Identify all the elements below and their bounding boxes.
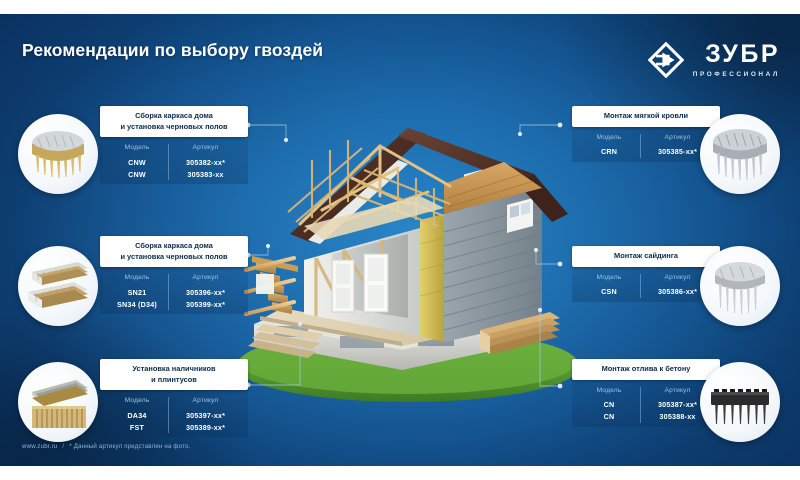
table-row: SN21 305396-xx* [106,286,242,298]
card-title: Сборка каркаса дома и установка черновых… [100,236,248,267]
table-header-row: Модель Артикул [578,274,714,286]
table-row: CNW 305383-xx [106,168,242,180]
card-title: Монтаж сайдинга [572,246,720,267]
card-title-line1: Монтаж отлива к бетону [577,364,715,375]
product-table: Модель Артикул SN21 305396-xx* SN34 (D34… [106,274,242,310]
table-header-row: Модель Артикул [578,387,714,399]
cell-article: 305396-xx* [169,286,242,298]
column-header-article: Артикул [169,144,242,156]
product-table: Модель Артикул CRN 305385-xx* [578,134,714,158]
table-row: SN34 (D34) 305399-xx* [106,298,242,310]
table-header-row: Модель Артикул [106,397,242,409]
cell-model: CRN [578,146,641,158]
card-body: Модель Артикул CSN 305386-xx* [572,267,720,302]
cell-article: 305382-xx* [169,156,242,168]
card-title-line1: Монтаж сайдинга [577,251,715,262]
column-header-article: Артикул [169,274,242,286]
callout-card-concrete-flashing[interactable]: Монтаж отлива к бетону Модель Артикул CN… [572,359,720,427]
cell-model: CSN [578,286,641,298]
brand-logo: ЗУБР ПРОФЕССИОНАЛ [648,42,780,78]
card-title-line1: Сборка каркаса дома [105,241,243,252]
footer: www.zubr.ru / * Данный артикул представл… [22,443,191,450]
card-title: Монтаж мягкой кровли [572,106,720,127]
product-table: Модель Артикул DA34 305397-xx* FST 30538… [106,397,242,433]
infographic-poster: Рекомендации по выбору гвоздей ЗУБР ПРОФ… [0,0,800,480]
logo-wordmark: ЗУБР [705,42,780,67]
table-header-row: Модель Артикул [578,134,714,146]
card-title-line2: и плинтусов [105,375,243,386]
table-row: CN 305387-xx* [578,399,714,411]
table-row: DA34 305397-xx* [106,409,242,421]
zubr-arrow-diamond-icon [648,42,684,78]
logo-tagline: ПРОФЕССИОНАЛ [693,71,780,78]
cell-article: 305389-xx* [169,421,242,433]
card-body: Модель Артикул CNW 305382-xx* CNW 305383… [100,137,248,184]
card-body: Модель Артикул DA34 305397-xx* FST 30538… [100,390,248,437]
table-header-row: Модель Артикул [106,274,242,286]
cell-article: 305399-xx* [169,298,242,310]
card-title-line1: Установка наличников [105,364,243,375]
callout-card-frame-subfloor-strip[interactable]: Сборка каркаса дома и установка черновых… [100,236,248,314]
column-header-model: Модель [578,387,641,399]
column-header-model: Модель [106,144,169,156]
card-title-line1: Сборка каркаса дома [105,111,243,122]
footer-website-link[interactable]: www.zubr.ru [22,443,57,450]
product-table: Модель Артикул CNW 305382-xx* CNW 305383… [106,144,242,180]
card-title: Монтаж отлива к бетону [572,359,720,380]
cell-model: CN [578,411,641,423]
cutaway-house-illustration [212,74,602,424]
finish-nail-strip-icon [18,362,98,442]
cell-model: CN [578,399,641,411]
cell-model: SN21 [106,286,169,298]
poster-stage: Рекомендации по выбору гвоздей ЗУБР ПРОФ… [0,14,800,466]
table-row: CSN 305386-xx* [578,286,714,298]
card-title-line1: Монтаж мягкой кровли [577,111,715,122]
table-row: CN 305388-xx [578,411,714,423]
table-row: FST 305389-xx* [106,421,242,433]
cell-model: SN34 (D34) [106,298,169,310]
card-title-line2: и установка черновых полов [105,122,243,133]
card-title: Установка наличников и плинтусов [100,359,248,390]
cell-model: CNW [106,156,169,168]
card-body: Модель Артикул SN21 305396-xx* SN34 (D34… [100,267,248,314]
column-header-model: Модель [106,397,169,409]
table-row: CNW 305382-xx* [106,156,242,168]
cell-article: 305397-xx* [169,409,242,421]
table-header-row: Модель Артикул [106,144,242,156]
product-table: Модель Артикул CN 305387-xx* CN 305388-x… [578,387,714,423]
cell-model: FST [106,421,169,433]
card-body: Модель Артикул CRN 305385-xx* [572,127,720,162]
nail-coil-icon [18,114,98,194]
callout-card-trim-baseboard[interactable]: Установка наличников и плинтусов Модель … [100,359,248,437]
column-header-model: Модель [578,274,641,286]
card-title: Сборка каркаса дома и установка черновых… [100,106,248,137]
callout-card-soft-roofing[interactable]: Монтаж мягкой кровли Модель Артикул CRN … [572,106,720,162]
footer-separator: / [62,443,64,450]
page-title: Рекомендации по выбору гвоздей [22,40,323,61]
cell-model: DA34 [106,409,169,421]
roofing-nail-coil-icon [700,114,780,194]
column-header-model: Модель [578,134,641,146]
card-title-line2: и установка черновых полов [105,252,243,263]
cell-model: CNW [106,168,169,180]
concrete-nail-strip-icon [700,362,780,442]
footer-note: * Данный артикул представлен на фото. [69,443,190,450]
cell-article: 305383-xx [169,168,242,180]
callout-card-siding[interactable]: Монтаж сайдинга Модель Артикул CSN 30538… [572,246,720,302]
card-body: Модель Артикул CN 305387-xx* CN 305388-x… [572,380,720,427]
column-header-model: Модель [106,274,169,286]
nail-strip-icon [18,246,98,326]
product-table: Модель Артикул CSN 305386-xx* [578,274,714,298]
column-header-article: Артикул [169,397,242,409]
siding-nail-coil-icon [700,246,780,326]
callout-card-frame-subfloor-coil[interactable]: Сборка каркаса дома и установка черновых… [100,106,248,184]
table-row: CRN 305385-xx* [578,146,714,158]
